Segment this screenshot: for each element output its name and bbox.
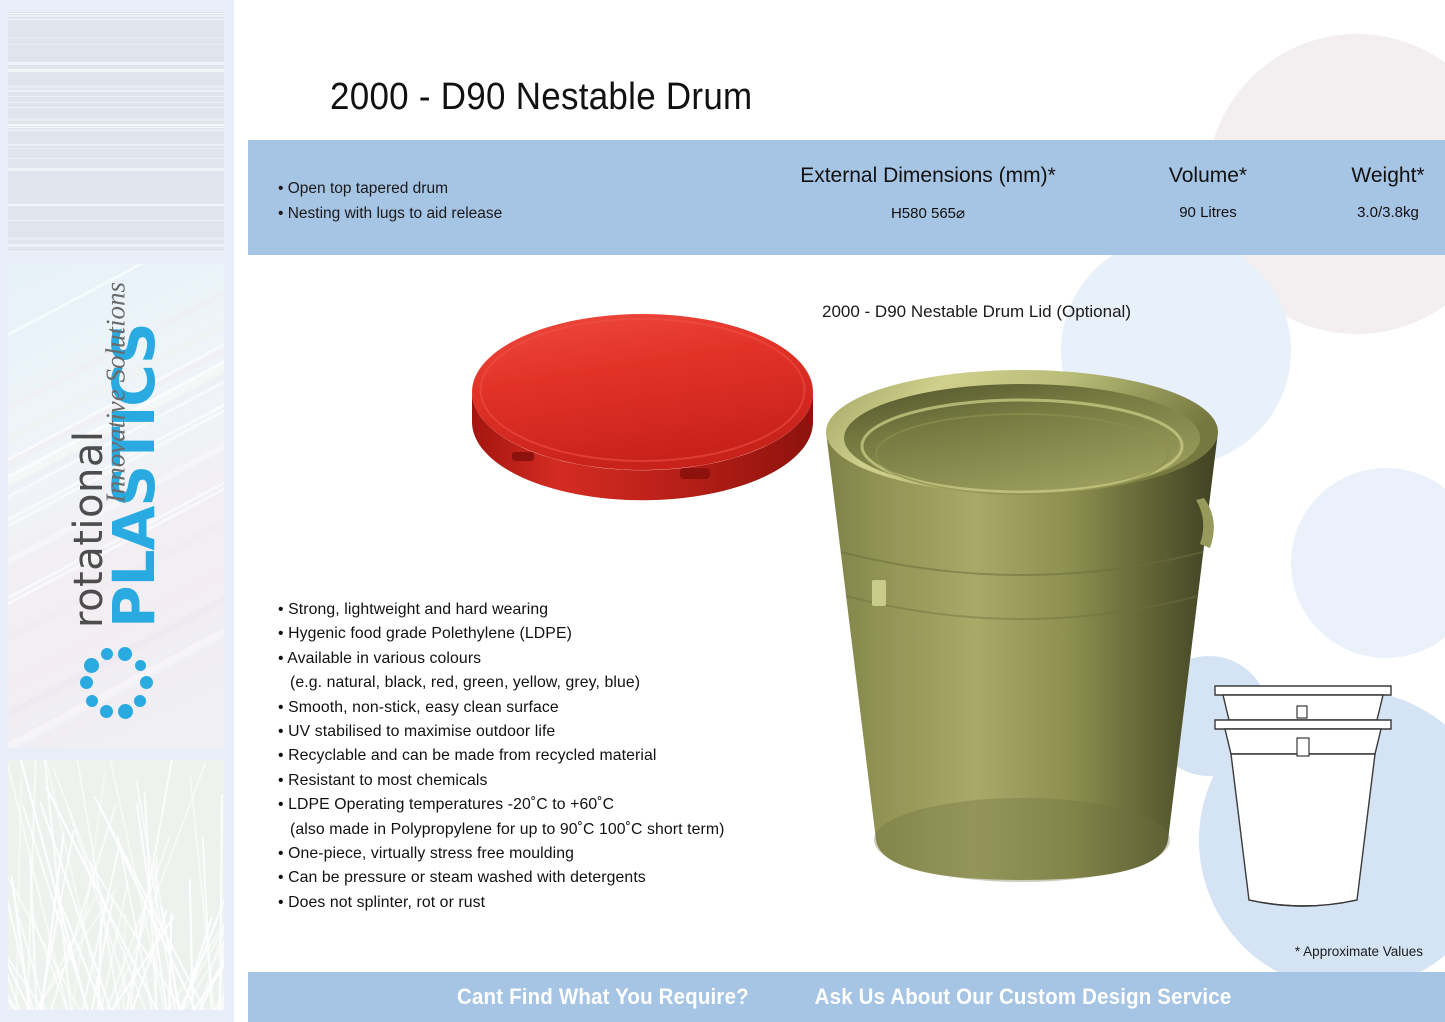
feature-item: • Hygenic food grade Polethylene (LDPE) [278, 622, 724, 646]
feature-item: • UV stabilised to maximise outdoor life [278, 720, 724, 744]
feature-item: • Does not splinter, rot or rust [278, 891, 724, 915]
dot-ring-icon [77, 644, 155, 722]
nested-drums-wireframe [1205, 668, 1401, 918]
footer-question: Cant Find What You Require? [457, 984, 749, 1010]
feature-item: • One-piece, virtually stress free mould… [278, 842, 724, 866]
spec-heading: External Dimensions (mm)* [758, 164, 1098, 188]
spec-heading: Weight* [1298, 164, 1445, 188]
spec-bullet: • Open top tapered drum [278, 176, 502, 201]
sidebar: rotational PLASTICS Innovative Solutions [0, 0, 234, 1022]
spec-value: 3.0/3.8kg [1298, 204, 1445, 221]
spec-value: 90 Litres [1118, 204, 1298, 221]
feature-item: • Can be pressure or steam washed with d… [278, 866, 724, 890]
decor-circle-blue-mid [1291, 468, 1445, 658]
feature-item: • Available in various colours [278, 647, 724, 671]
texture-panel-streaks [8, 12, 224, 252]
feature-subitem: (also made in Polypropylene for up to 90… [278, 818, 724, 842]
spec-column-weight: Weight* 3.0/3.8kg [1298, 164, 1445, 221]
feature-item: • Smooth, non-stick, easy clean surface [278, 696, 724, 720]
lid-caption: 2000 - D90 Nestable Drum Lid (Optional) [822, 302, 1131, 322]
drum-lid-image [470, 280, 815, 515]
footer-bar: Cant Find What You Require? Ask Us About… [248, 972, 1445, 1022]
spec-bullet-list: • Open top tapered drum • Nesting with l… [278, 176, 502, 226]
spec-header-bar: • Open top tapered drum • Nesting with l… [248, 140, 1445, 255]
brand-tagline: Innovative Solutions [101, 282, 132, 503]
spec-heading: Volume* [1118, 164, 1298, 188]
page-title: 2000 - D90 Nestable Drum [330, 76, 752, 119]
spec-column-volume: Volume* 90 Litres [1118, 164, 1298, 221]
texture-panel-grass [8, 760, 224, 1010]
feature-item: • Resistant to most chemicals [278, 769, 724, 793]
spec-value: H580 565⌀ [758, 204, 1098, 222]
feature-item: • LDPE Operating temperatures -20˚C to +… [278, 793, 724, 817]
footer-cta[interactable]: Ask Us About Our Custom Design Service [815, 984, 1232, 1010]
brand-logo: rotational PLASTICS Innovative Solutions [8, 264, 224, 748]
spec-column-dimensions: External Dimensions (mm)* H580 565⌀ [758, 164, 1098, 222]
drum-image [812, 370, 1232, 920]
feature-item: • Recyclable and can be made from recycl… [278, 744, 724, 768]
spec-bullet: • Nesting with lugs to aid release [278, 201, 502, 226]
feature-item: • Strong, lightweight and hard wearing [278, 598, 724, 622]
feature-subitem: (e.g. natural, black, red, green, yellow… [278, 671, 724, 695]
datasheet-page: rotational PLASTICS Innovative Solutions… [0, 0, 1445, 1022]
feature-list: • Strong, lightweight and hard wearing •… [278, 598, 724, 915]
footnote-approximate-values: * Approximate Values [1295, 944, 1423, 959]
